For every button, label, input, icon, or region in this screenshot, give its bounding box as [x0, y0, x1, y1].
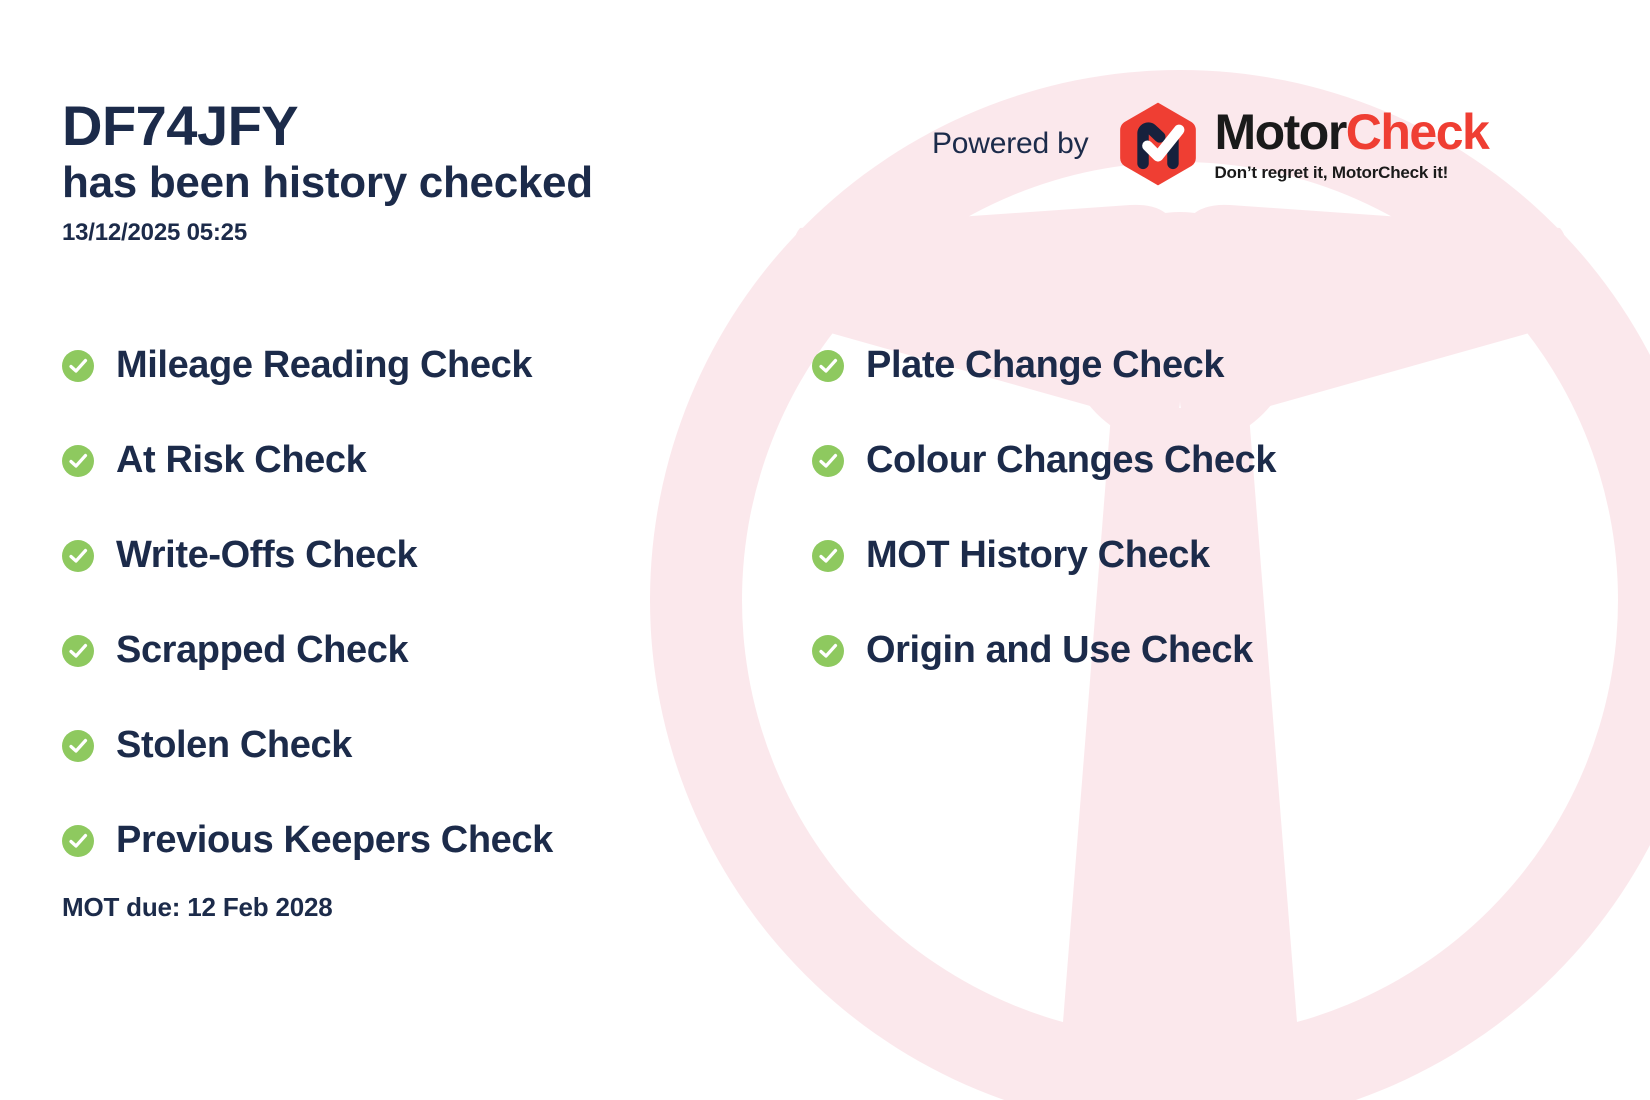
- check-item-label: Plate Change Check: [866, 344, 1224, 387]
- checks-column-left: Mileage Reading Check At Risk Check Writ…: [62, 318, 782, 888]
- check-timestamp: 13/12/2025 05:25: [62, 219, 593, 247]
- vehicle-history-summary-card: DF74JFY has been history checked 13/12/2…: [0, 0, 1650, 1100]
- wordmark-text: MotorCheck: [1214, 107, 1488, 157]
- check-circle-icon: [812, 445, 844, 477]
- check-item: Write-Offs Check: [62, 508, 782, 603]
- brand-tagline: Don’t regret it, MotorCheck it!: [1214, 163, 1488, 183]
- check-item-label: MOT History Check: [866, 534, 1210, 577]
- check-circle-icon: [62, 445, 94, 477]
- check-item: Stolen Check: [62, 698, 782, 793]
- page-header: DF74JFY has been history checked 13/12/2…: [62, 96, 593, 247]
- check-item-label: Colour Changes Check: [866, 439, 1276, 482]
- check-circle-icon: [62, 730, 94, 762]
- powered-by-lockup: Powered by MotorCheck Don’t regret it, M…: [932, 100, 1488, 188]
- motorcheck-wordmark: MotorCheck Don’t regret it, MotorCheck i…: [1214, 105, 1488, 183]
- check-item: MOT History Check: [812, 508, 1572, 603]
- check-item: Mileage Reading Check: [62, 318, 782, 413]
- check-circle-icon: [812, 635, 844, 667]
- check-item-label: Scrapped Check: [116, 629, 408, 672]
- check-item: At Risk Check: [62, 413, 782, 508]
- check-circle-icon: [812, 540, 844, 572]
- registration-plate: DF74JFY: [62, 96, 593, 156]
- wordmark-check: Check: [1346, 104, 1489, 160]
- checks-column-right: Plate Change Check Colour Changes Check …: [812, 318, 1572, 698]
- check-item: Plate Change Check: [812, 318, 1572, 413]
- check-item-label: Stolen Check: [116, 724, 352, 767]
- check-circle-icon: [812, 350, 844, 382]
- check-item: Scrapped Check: [62, 603, 782, 698]
- check-item: Colour Changes Check: [812, 413, 1572, 508]
- mot-due-date: MOT due: 12 Feb 2028: [62, 892, 333, 923]
- check-item-label: Write-Offs Check: [116, 534, 417, 577]
- check-circle-icon: [62, 350, 94, 382]
- page-title: has been history checked: [62, 158, 593, 209]
- check-circle-icon: [62, 635, 94, 667]
- check-circle-icon: [62, 540, 94, 572]
- check-item-label: Previous Keepers Check: [116, 819, 553, 862]
- wordmark-motor: Motor: [1214, 104, 1345, 160]
- check-item-label: Mileage Reading Check: [116, 344, 532, 387]
- check-item: Origin and Use Check: [812, 603, 1572, 698]
- check-item-label: Origin and Use Check: [866, 629, 1253, 672]
- check-item: Previous Keepers Check: [62, 793, 782, 888]
- motorcheck-logo[interactable]: MotorCheck Don’t regret it, MotorCheck i…: [1114, 100, 1488, 188]
- check-item-label: At Risk Check: [116, 439, 366, 482]
- powered-by-label: Powered by: [932, 127, 1088, 161]
- check-circle-icon: [62, 825, 94, 857]
- motorcheck-hexagon-logo-icon: [1114, 100, 1202, 188]
